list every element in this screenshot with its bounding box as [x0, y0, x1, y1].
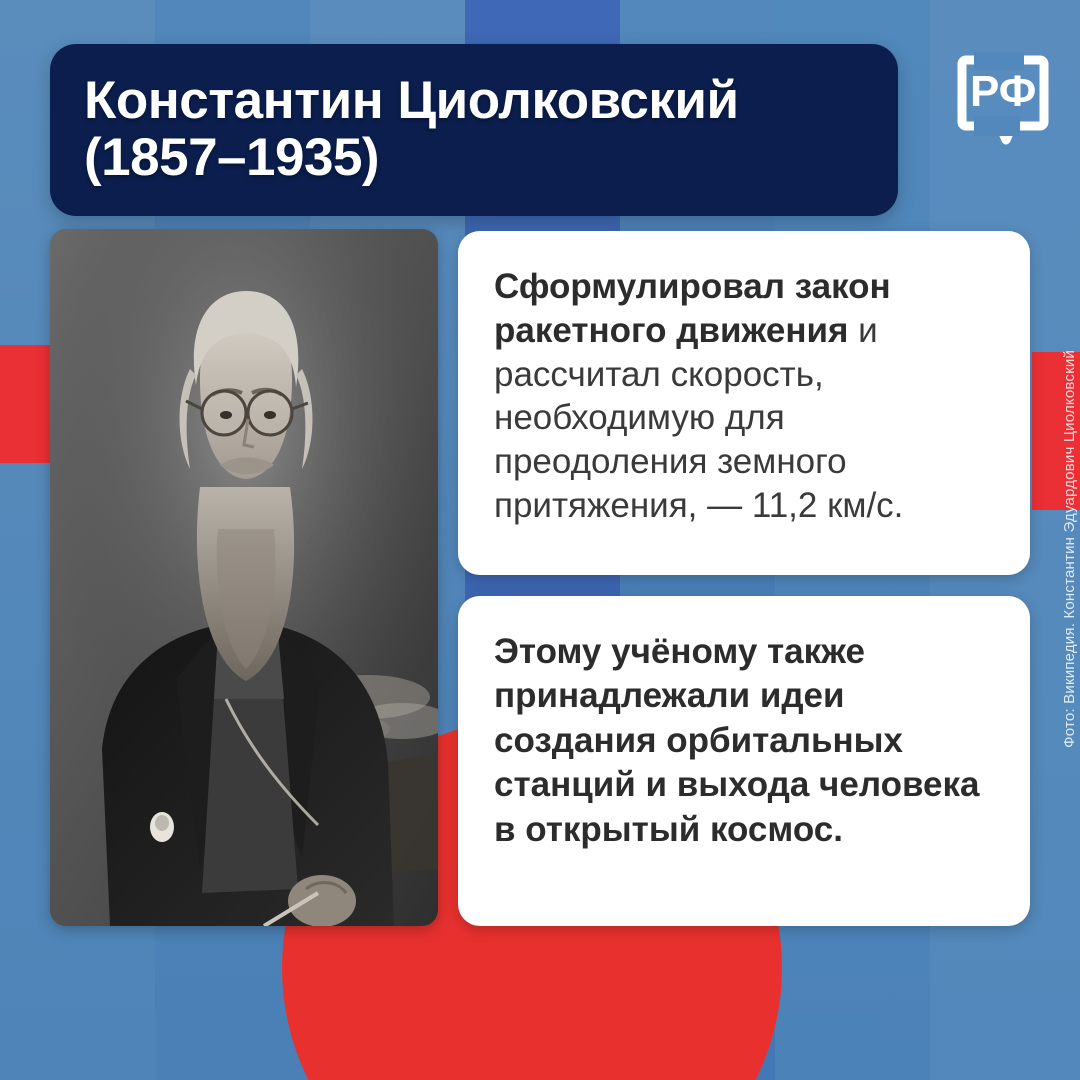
svg-text:РФ: РФ [970, 67, 1036, 116]
page-title: Константин Циолковский (1857–1935) [50, 73, 773, 186]
fact-card-1-lead: Сформулировал закон ракетного движения [494, 267, 891, 350]
portrait-photo [50, 229, 438, 926]
photo-credit: Фото: Википедия. Константин Эдуардович Ц… [1061, 350, 1078, 748]
fact-card-2-text: Этому учёному также принадлежали идеи со… [494, 630, 994, 852]
title-card: Константин Циолковский (1857–1935) [50, 44, 898, 216]
infographic-canvas: Константин Циолковский (1857–1935) РФ [0, 0, 1080, 1080]
fact-card-1: Сформулировал закон ракетного движения и… [458, 231, 1030, 575]
rf-logo-icon: РФ [948, 38, 1058, 150]
fact-card-1-text: Сформулировал закон ракетного движения и… [494, 265, 994, 528]
fact-card-2: Этому учёному также принадлежали идеи со… [458, 596, 1030, 926]
